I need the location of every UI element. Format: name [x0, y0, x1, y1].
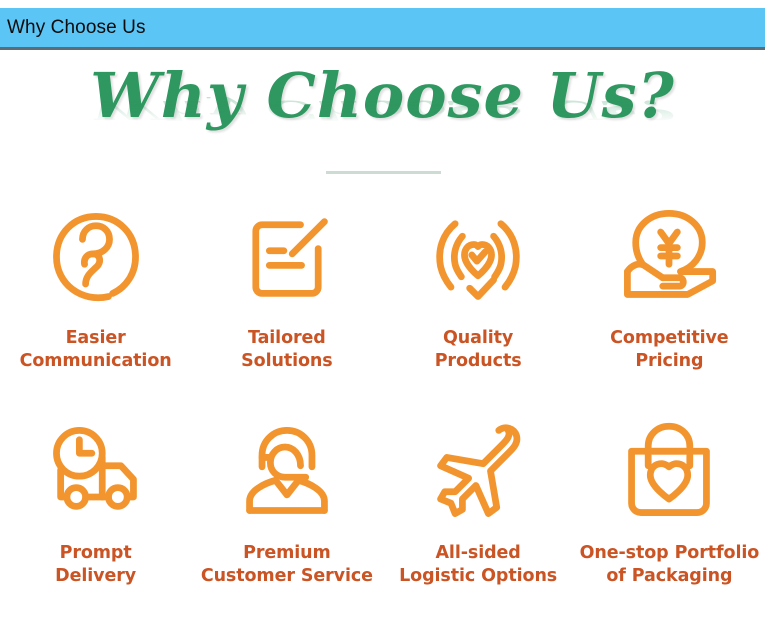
feature-label: Prompt Delivery	[55, 542, 136, 589]
feature-grid: Easier Communication Tailored Solutions	[0, 201, 765, 631]
feature-item-easier-communication[interactable]: Easier Communication	[0, 201, 191, 416]
page-content: Why Choose Us? Why Choose Us? Easier Com…	[0, 53, 765, 599]
feature-item-tailored-solutions[interactable]: Tailored Solutions	[191, 201, 382, 416]
hero-divider	[326, 171, 441, 174]
feature-item-quality-products[interactable]: Quality Products	[383, 201, 574, 416]
feature-label: Competitive Pricing	[610, 327, 728, 374]
airplane-icon	[426, 420, 530, 524]
feature-label: Easier Communication	[20, 327, 172, 374]
feature-label: Quality Products	[435, 327, 522, 374]
hand-yen-coin-icon	[617, 205, 721, 309]
window-title: Why Choose Us	[0, 17, 146, 39]
feature-item-competitive-pricing[interactable]: Competitive Pricing	[574, 201, 765, 416]
document-pen-icon	[235, 205, 339, 309]
feature-label: Premium Customer Service	[201, 542, 373, 589]
page-title: Why Choose Us?	[90, 65, 675, 127]
truck-clock-icon	[44, 420, 148, 524]
ear-listening-icon	[44, 205, 148, 309]
feature-label: Tailored Solutions	[241, 327, 332, 374]
feature-label: All-sided Logistic Options	[399, 542, 557, 589]
shopping-bag-heart-icon	[617, 420, 721, 524]
feature-label: One-stop Portfolio of Packaging	[580, 542, 760, 589]
hero-section: Why Choose Us? Why Choose Us?	[0, 65, 765, 185]
headset-agent-icon	[235, 420, 339, 524]
heart-check-soundwave-icon	[426, 205, 530, 309]
window-title-bar: Why Choose Us	[0, 8, 765, 50]
